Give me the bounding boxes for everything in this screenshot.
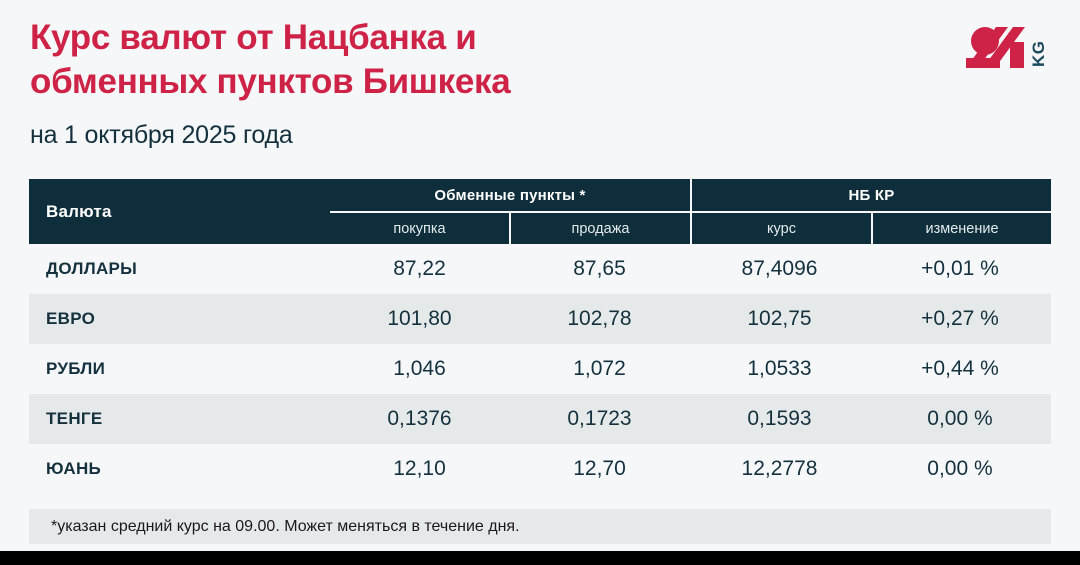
page-subtitle: на 1 октября 2025 года: [30, 105, 790, 150]
table-footnote: *указан средний курс на 09.00. Может мен…: [29, 509, 1051, 544]
cell-rate: 102,75: [690, 294, 869, 344]
cell-sell: 0,1723: [509, 394, 690, 444]
cell-change: +0,27 %: [869, 294, 1051, 344]
cell-buy: 101,80: [330, 294, 509, 344]
page-header: Курс валют от Нацбанка и обменных пункто…: [0, 0, 1080, 165]
cell-change: 0,00 %: [869, 394, 1051, 444]
page-title: Курс валют от Нацбанка и обменных пункто…: [30, 16, 790, 105]
cell-buy: 87,22: [330, 244, 509, 294]
currency-rate-table: Валюта Обменные пункты * НБ КР покупка п…: [29, 179, 1051, 544]
table-row: ЕВРО 101,80 102,78 102,75 +0,27 %: [29, 294, 1051, 344]
cell-buy: 12,10: [330, 444, 509, 494]
cell-currency: РУБЛИ: [29, 344, 330, 394]
cell-rate: 87,4096: [690, 244, 869, 294]
column-header-change: изменение: [873, 213, 1051, 244]
cell-sell: 12,70: [509, 444, 690, 494]
column-header-rate: курс: [692, 213, 871, 244]
column-group-exchange-points: Обменные пункты *: [330, 179, 690, 211]
cell-sell: 1,072: [509, 344, 690, 394]
column-header-buy: покупка: [330, 213, 509, 244]
cell-sell: 87,65: [509, 244, 690, 294]
bottom-bar: [0, 551, 1080, 565]
cell-currency: ТЕНГЕ: [29, 394, 330, 444]
cell-rate: 0,1593: [690, 394, 869, 444]
table-body: ДОЛЛАРЫ 87,22 87,65 87,4096 +0,01 % ЕВРО…: [29, 244, 1051, 494]
24kg-logo[interactable]: KG: [966, 22, 1058, 80]
cell-currency: ЮАНЬ: [29, 444, 330, 494]
column-group-row: Обменные пункты * НБ КР: [330, 179, 1051, 211]
cell-rate: 12,2778: [690, 444, 869, 494]
column-header-sell: продажа: [511, 213, 690, 244]
table-row: РУБЛИ 1,046 1,072 1,0533 +0,44 %: [29, 344, 1051, 394]
logo-kg-text: KG: [1029, 41, 1048, 68]
cell-change: 0,00 %: [869, 444, 1051, 494]
column-header-currency: Валюта: [29, 179, 330, 244]
column-subheader-row: покупка продажа курс изменение: [330, 211, 1051, 244]
cell-change: +0,44 %: [869, 344, 1051, 394]
cell-currency: ЕВРО: [29, 294, 330, 344]
cell-sell: 102,78: [509, 294, 690, 344]
cell-currency: ДОЛЛАРЫ: [29, 244, 330, 294]
table-header: Валюта Обменные пункты * НБ КР покупка п…: [29, 179, 1051, 244]
cell-change: +0,01 %: [869, 244, 1051, 294]
cell-buy: 1,046: [330, 344, 509, 394]
table-row: ЮАНЬ 12,10 12,70 12,2778 0,00 %: [29, 444, 1051, 494]
column-group-wrapper: Обменные пункты * НБ КР покупка продажа …: [330, 179, 1051, 244]
table-row: ДОЛЛАРЫ 87,22 87,65 87,4096 +0,01 %: [29, 244, 1051, 294]
svg-text:KG: KG: [1029, 41, 1048, 68]
table-row: ТЕНГЕ 0,1376 0,1723 0,1593 0,00 %: [29, 394, 1051, 444]
cell-rate: 1,0533: [690, 344, 869, 394]
cell-buy: 0,1376: [330, 394, 509, 444]
column-group-nbkr: НБ КР: [692, 179, 1051, 211]
title-block: Курс валют от Нацбанка и обменных пункто…: [30, 16, 790, 150]
